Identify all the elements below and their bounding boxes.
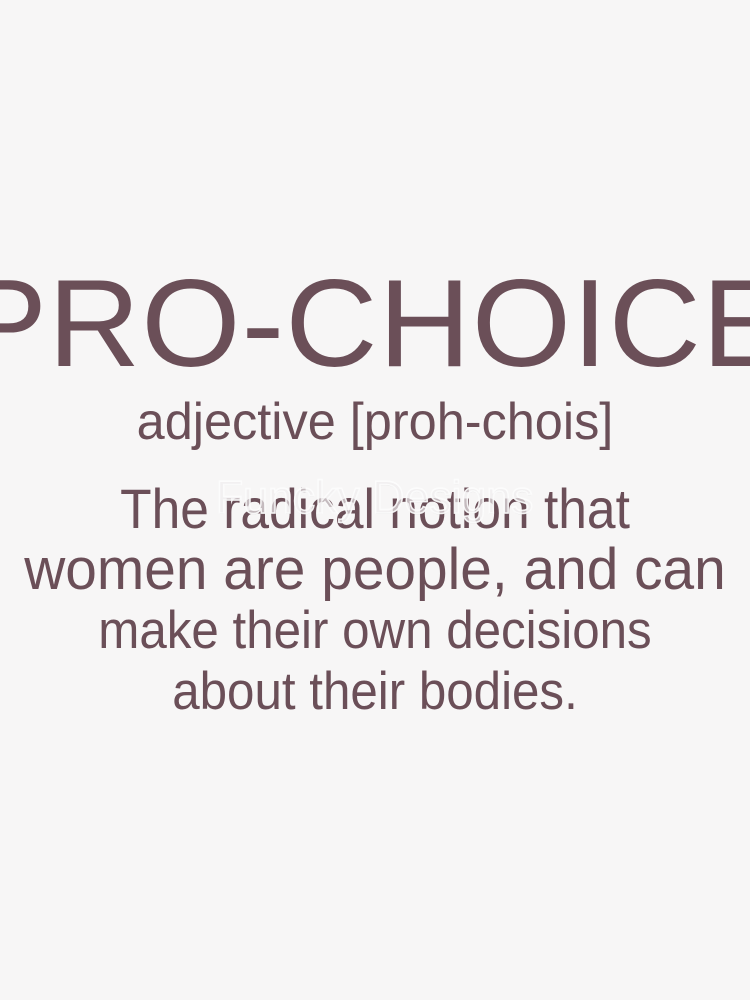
definition-line: women are people, and can [8, 539, 743, 600]
definition-block: The radical notion that women are people… [0, 478, 750, 722]
definition-line: make their own decisions [26, 600, 724, 661]
pronunciation-line: adjective [proh-chois] [11, 396, 739, 448]
design-content: PRO-CHOICE adjective [proh-chois] The ra… [0, 0, 750, 1000]
definition-line: The radical notion that [30, 478, 720, 539]
definition-line: about their bodies. [26, 661, 724, 722]
page-title: PRO-CHOICE [0, 262, 750, 386]
sticker-canvas: PRO-CHOICE adjective [proh-chois] The ra… [0, 0, 750, 1000]
